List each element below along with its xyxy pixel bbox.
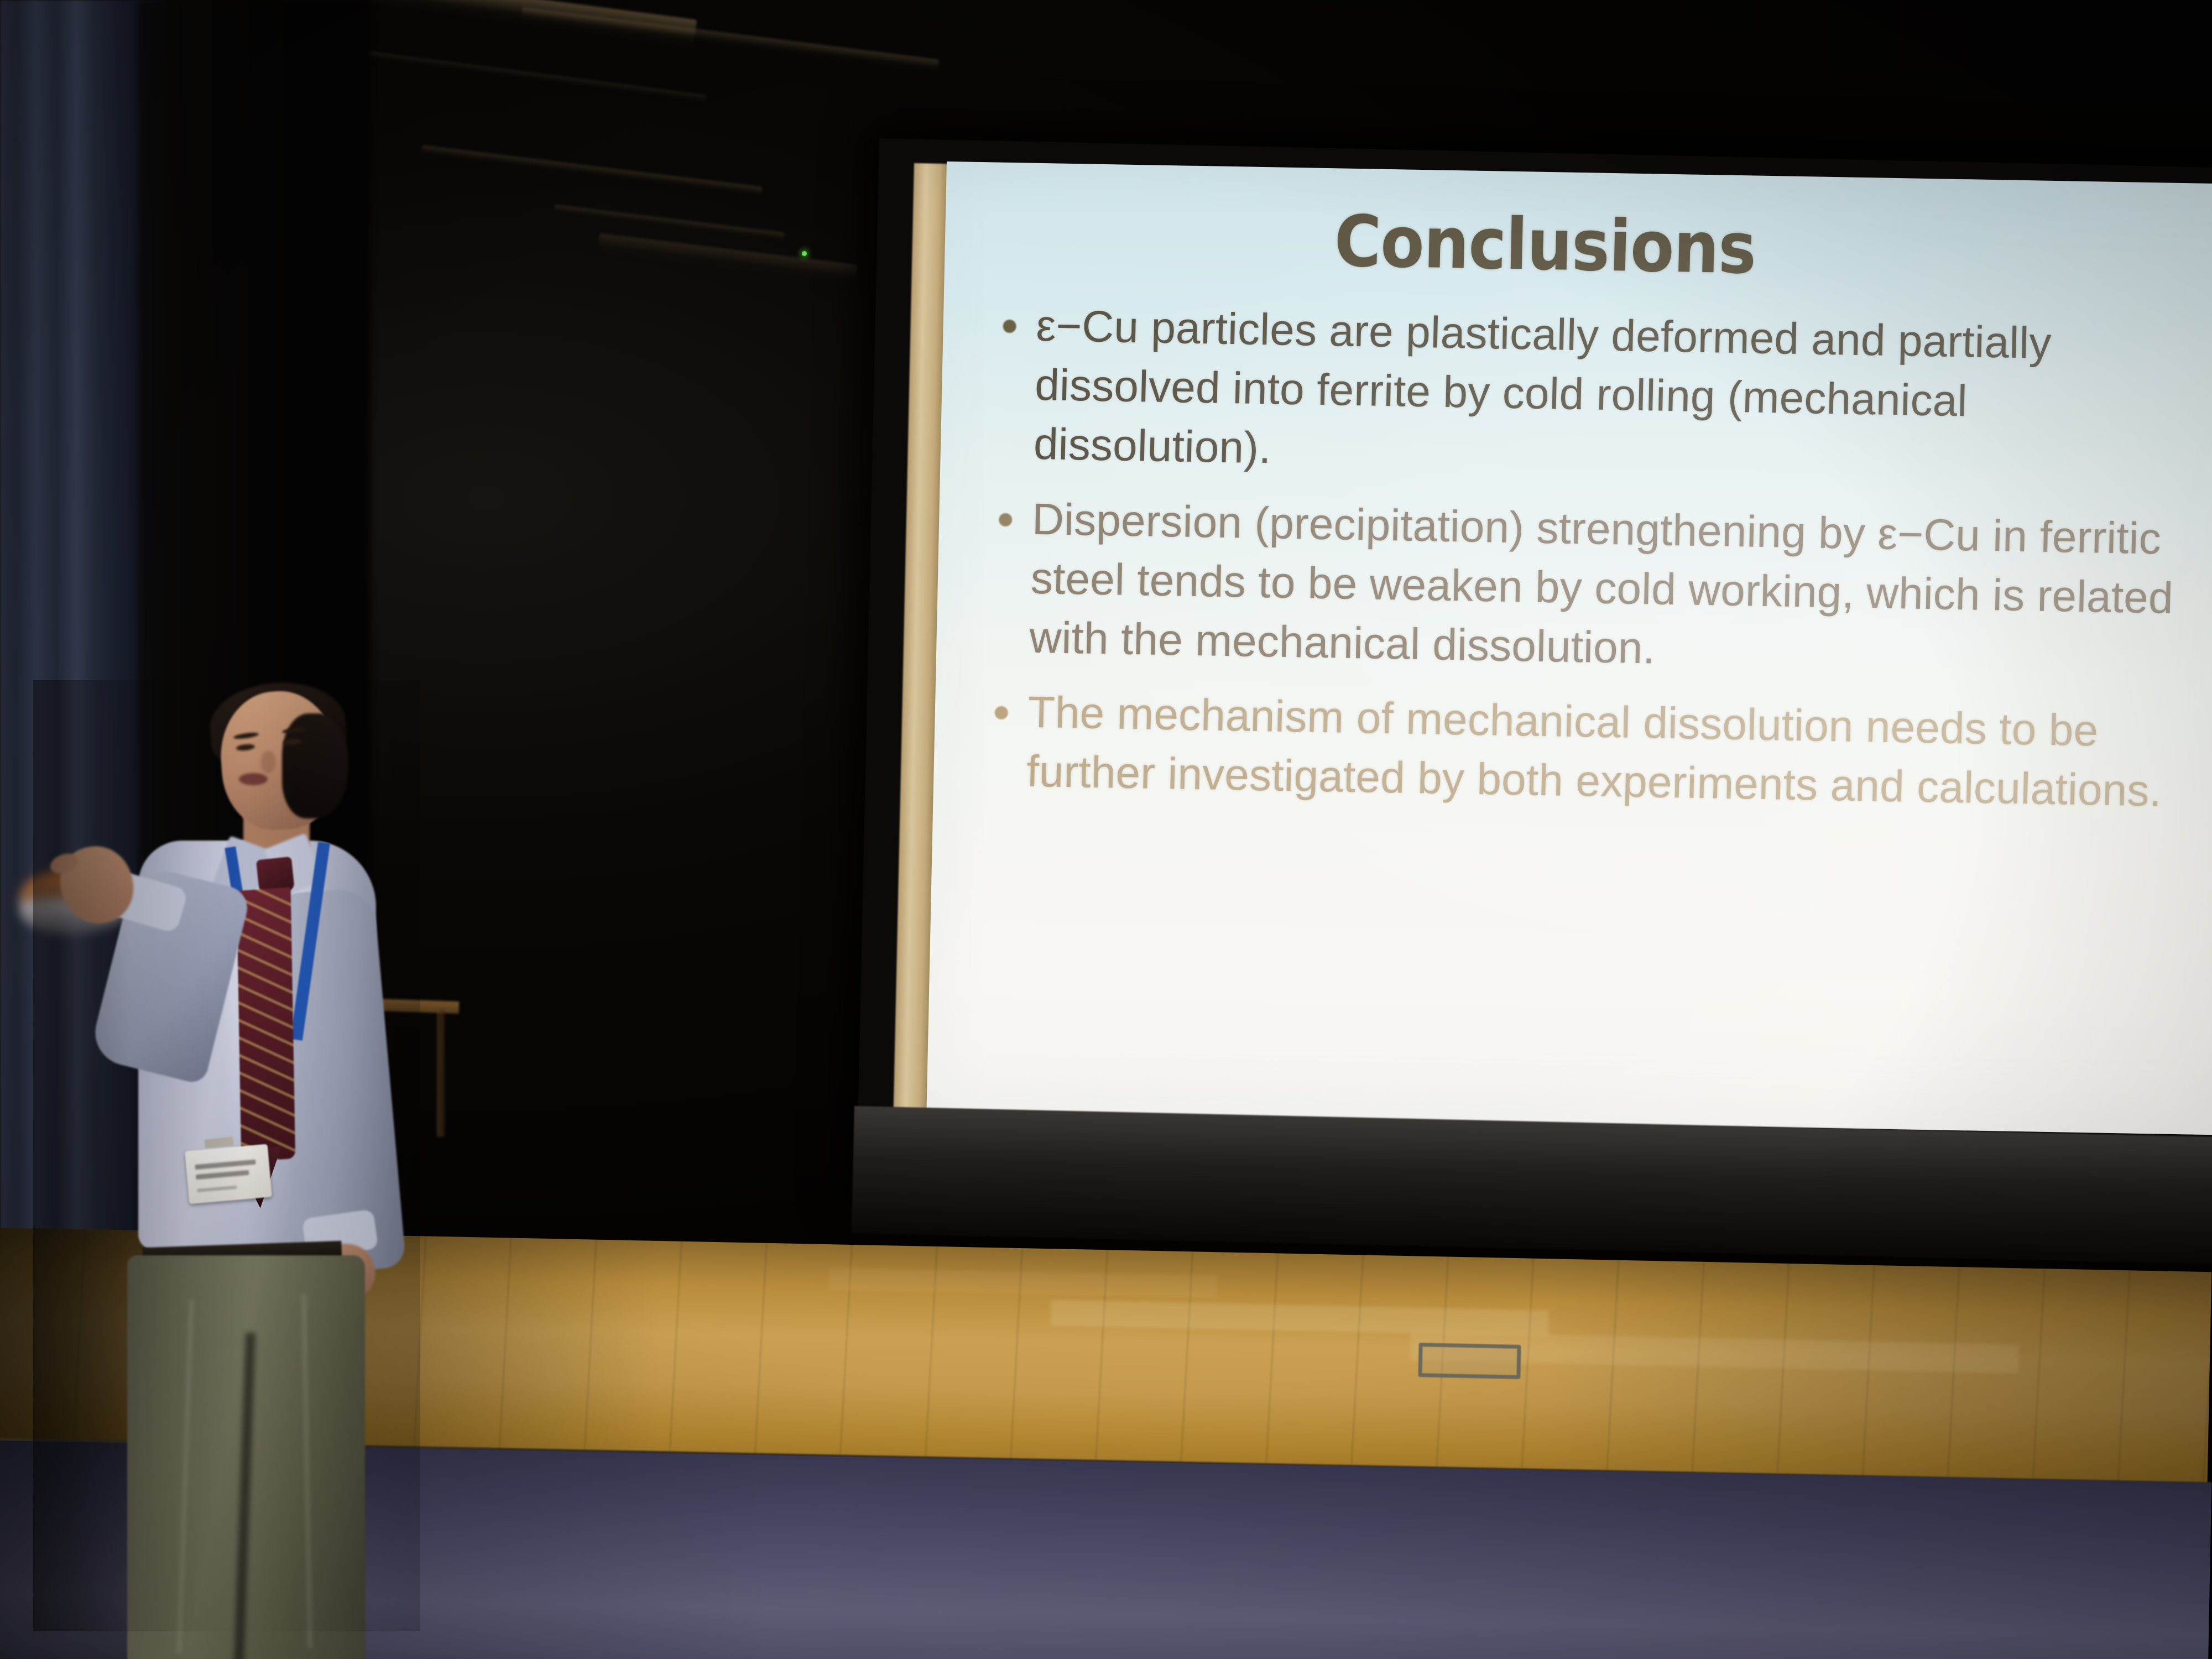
slide-bullet-list: ε−Cu particles are plastically deformed … xyxy=(993,295,2199,837)
badge-text-line xyxy=(196,1170,249,1180)
slide-title: Conclusions xyxy=(945,194,2212,299)
side-table-leg xyxy=(437,1010,445,1137)
floor-outlet-plate xyxy=(1418,1343,1521,1379)
badge-text-line xyxy=(195,1160,255,1170)
name-badge xyxy=(185,1144,272,1204)
slide-bullet-item: Dispersion (precipitation) strengthening… xyxy=(996,488,2195,687)
slide-bullet-text: Dispersion (precipitation) strengthening… xyxy=(1029,489,2195,687)
presenter-figure xyxy=(44,680,398,1620)
green-led-indicator-icon xyxy=(802,251,807,256)
slide-bullet-item: ε−Cu particles are plastically deformed … xyxy=(1000,295,2199,494)
projected-slide: Conclusions ε−Cu particles are plastical… xyxy=(926,161,2212,1135)
presentation-photo-scene: Conclusions ε−Cu particles are plastical… xyxy=(0,0,2212,1659)
slide-bullet-text: ε−Cu particles are plastically deformed … xyxy=(1033,296,2199,494)
bullet-dot-icon xyxy=(995,706,1009,719)
slide-bullet-text: The mechanism of mechanical dissolution … xyxy=(1026,682,2190,821)
bullet-dot-icon xyxy=(1003,320,1016,333)
slide-bullet-item: The mechanism of mechanical dissolution … xyxy=(993,682,2190,821)
presenter-mouth xyxy=(239,773,268,785)
badge-text-line xyxy=(197,1186,237,1192)
necktie xyxy=(237,887,295,1162)
presenter-nose xyxy=(261,751,275,773)
bullet-dot-icon xyxy=(999,513,1013,526)
